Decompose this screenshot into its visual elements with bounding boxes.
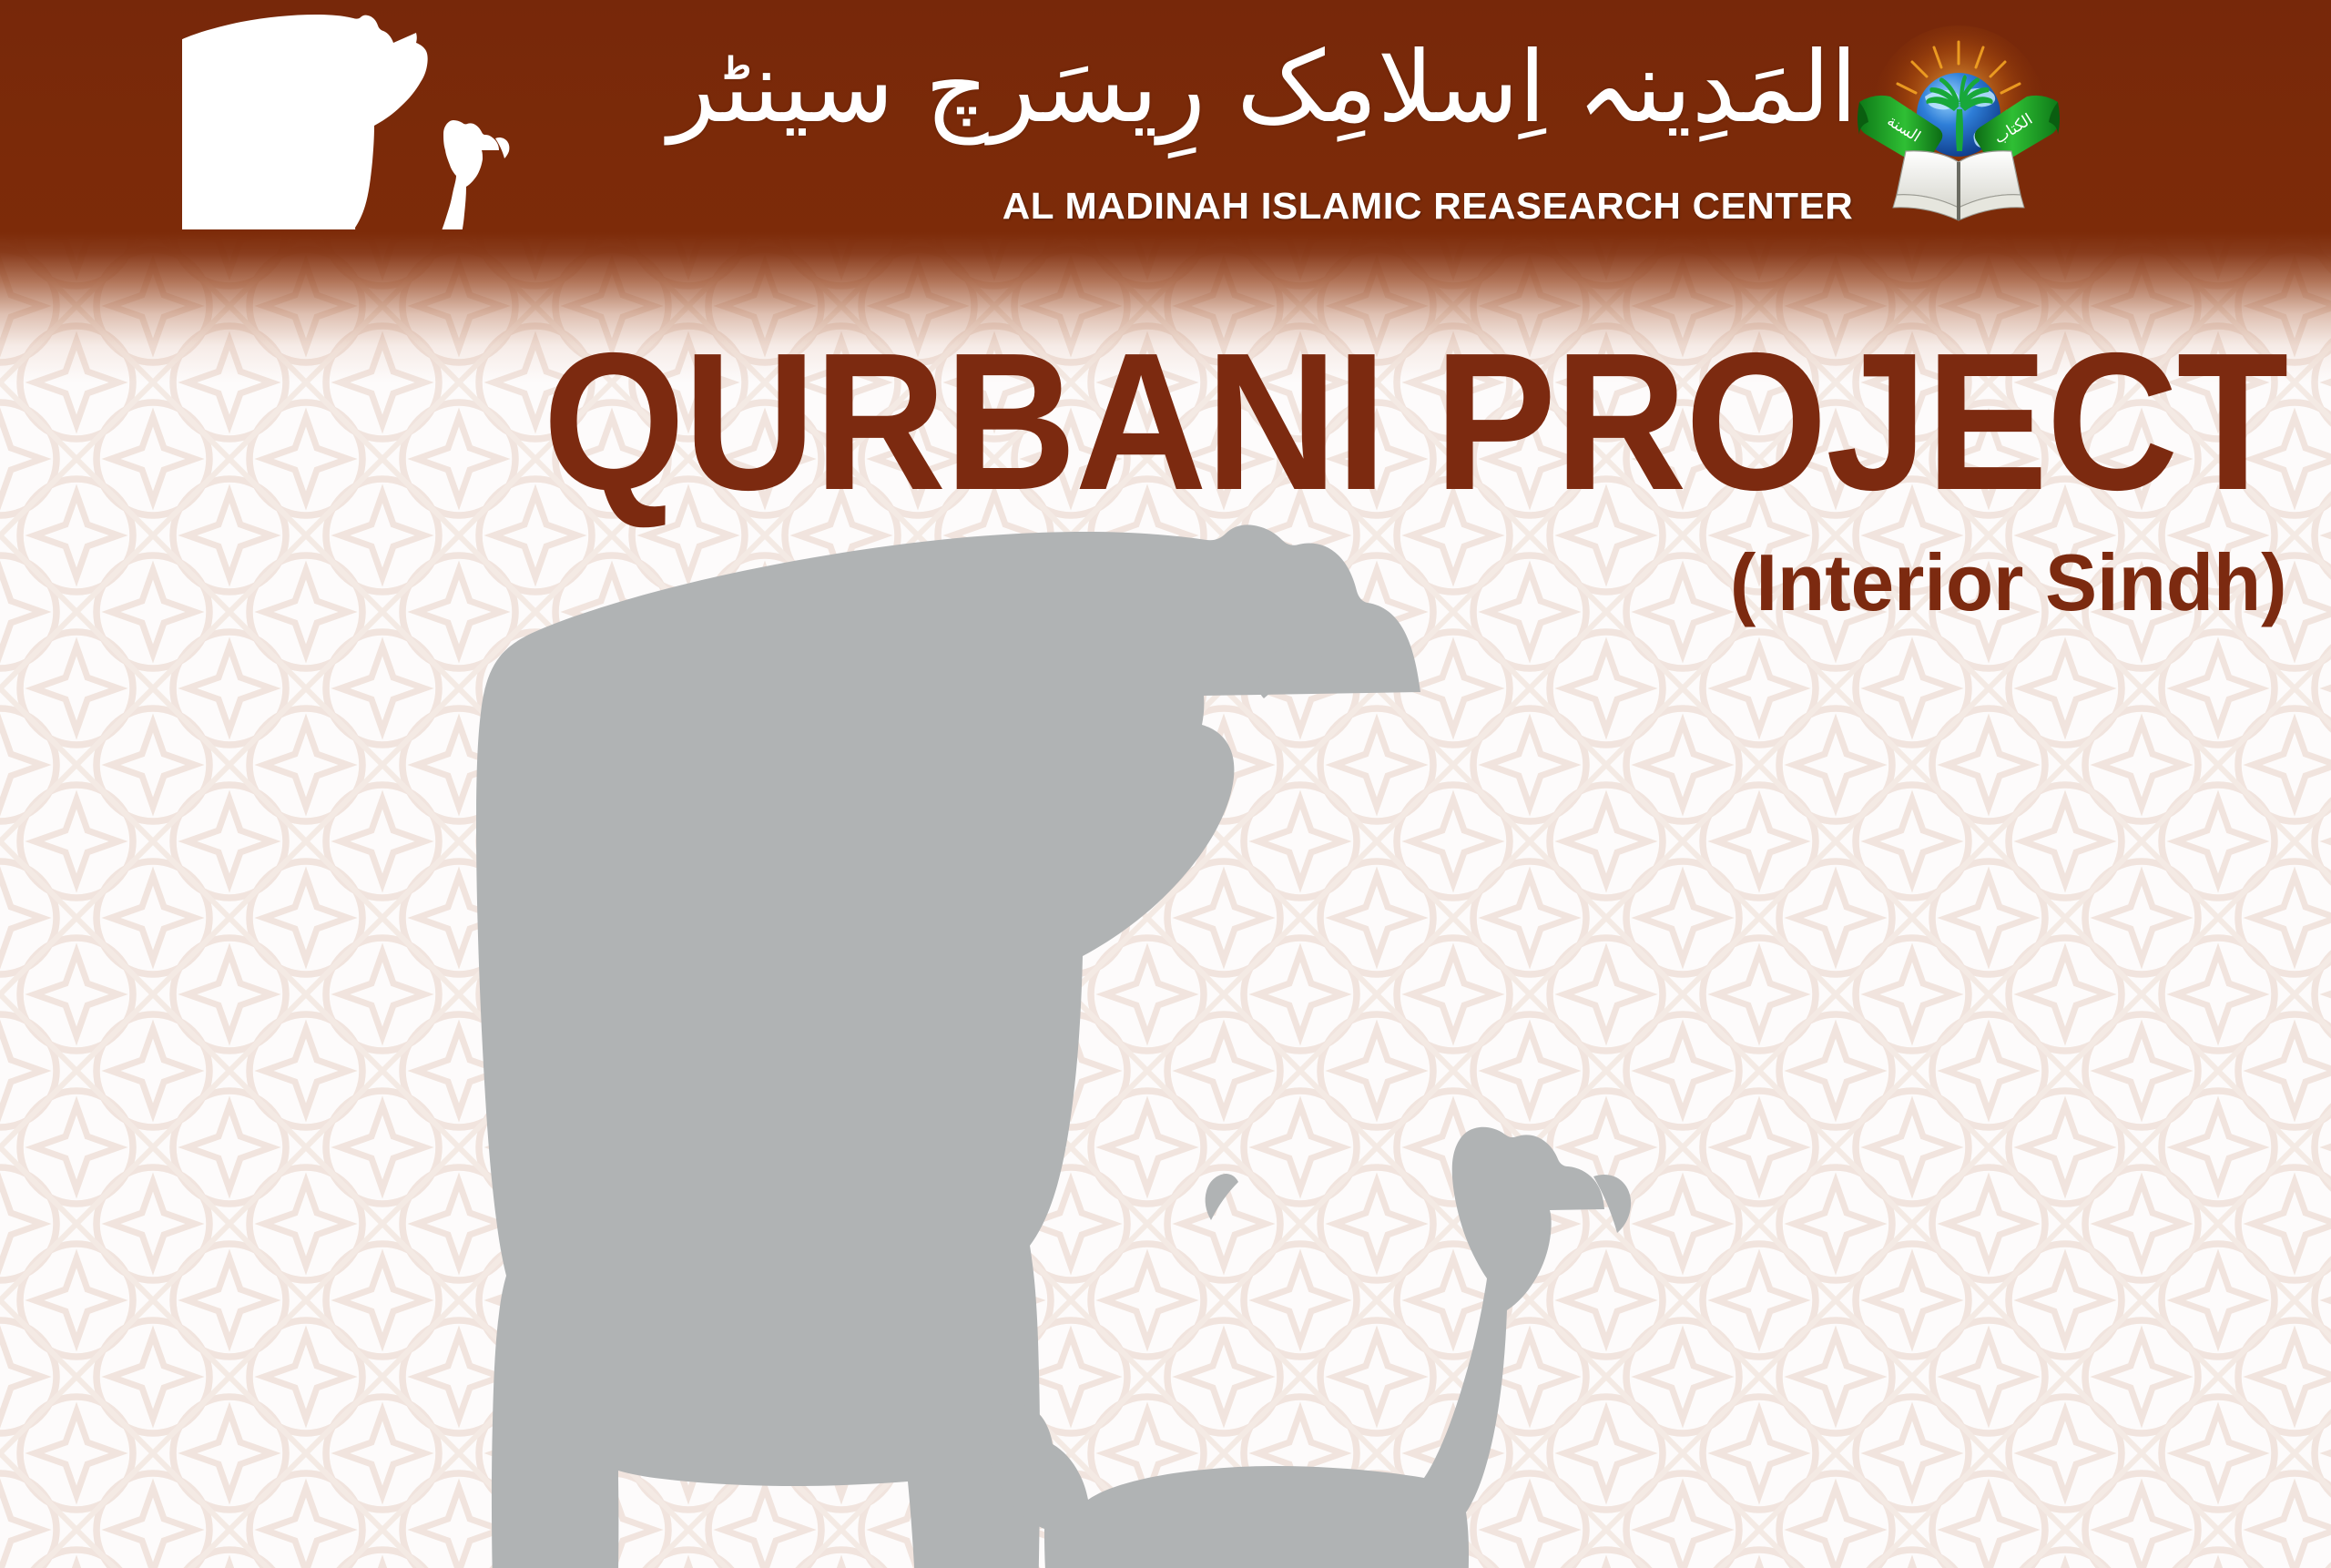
organization-name: AL MADINAH ISLAMIC REASEARCH CENTER — [985, 185, 1870, 228]
urdu-organization-title: المَدِينہ اِسلامِک رِیسَرچ سینٹر — [1002, 36, 1858, 139]
header: المَدِينہ اِسلامِک رِیسَرچ سینٹر AL MADI… — [0, 0, 2331, 255]
poster-canvas: المَدِينہ اِسلامِک رِیسَرچ سینٹر AL MADI… — [0, 0, 2331, 1568]
cow-silhouette — [476, 524, 1420, 1568]
globe-book-emblem-icon: السنة الكتاب — [1854, 25, 2063, 228]
goat-silhouette — [987, 1127, 1631, 1568]
cow-and-goat-icon — [182, 11, 528, 229]
